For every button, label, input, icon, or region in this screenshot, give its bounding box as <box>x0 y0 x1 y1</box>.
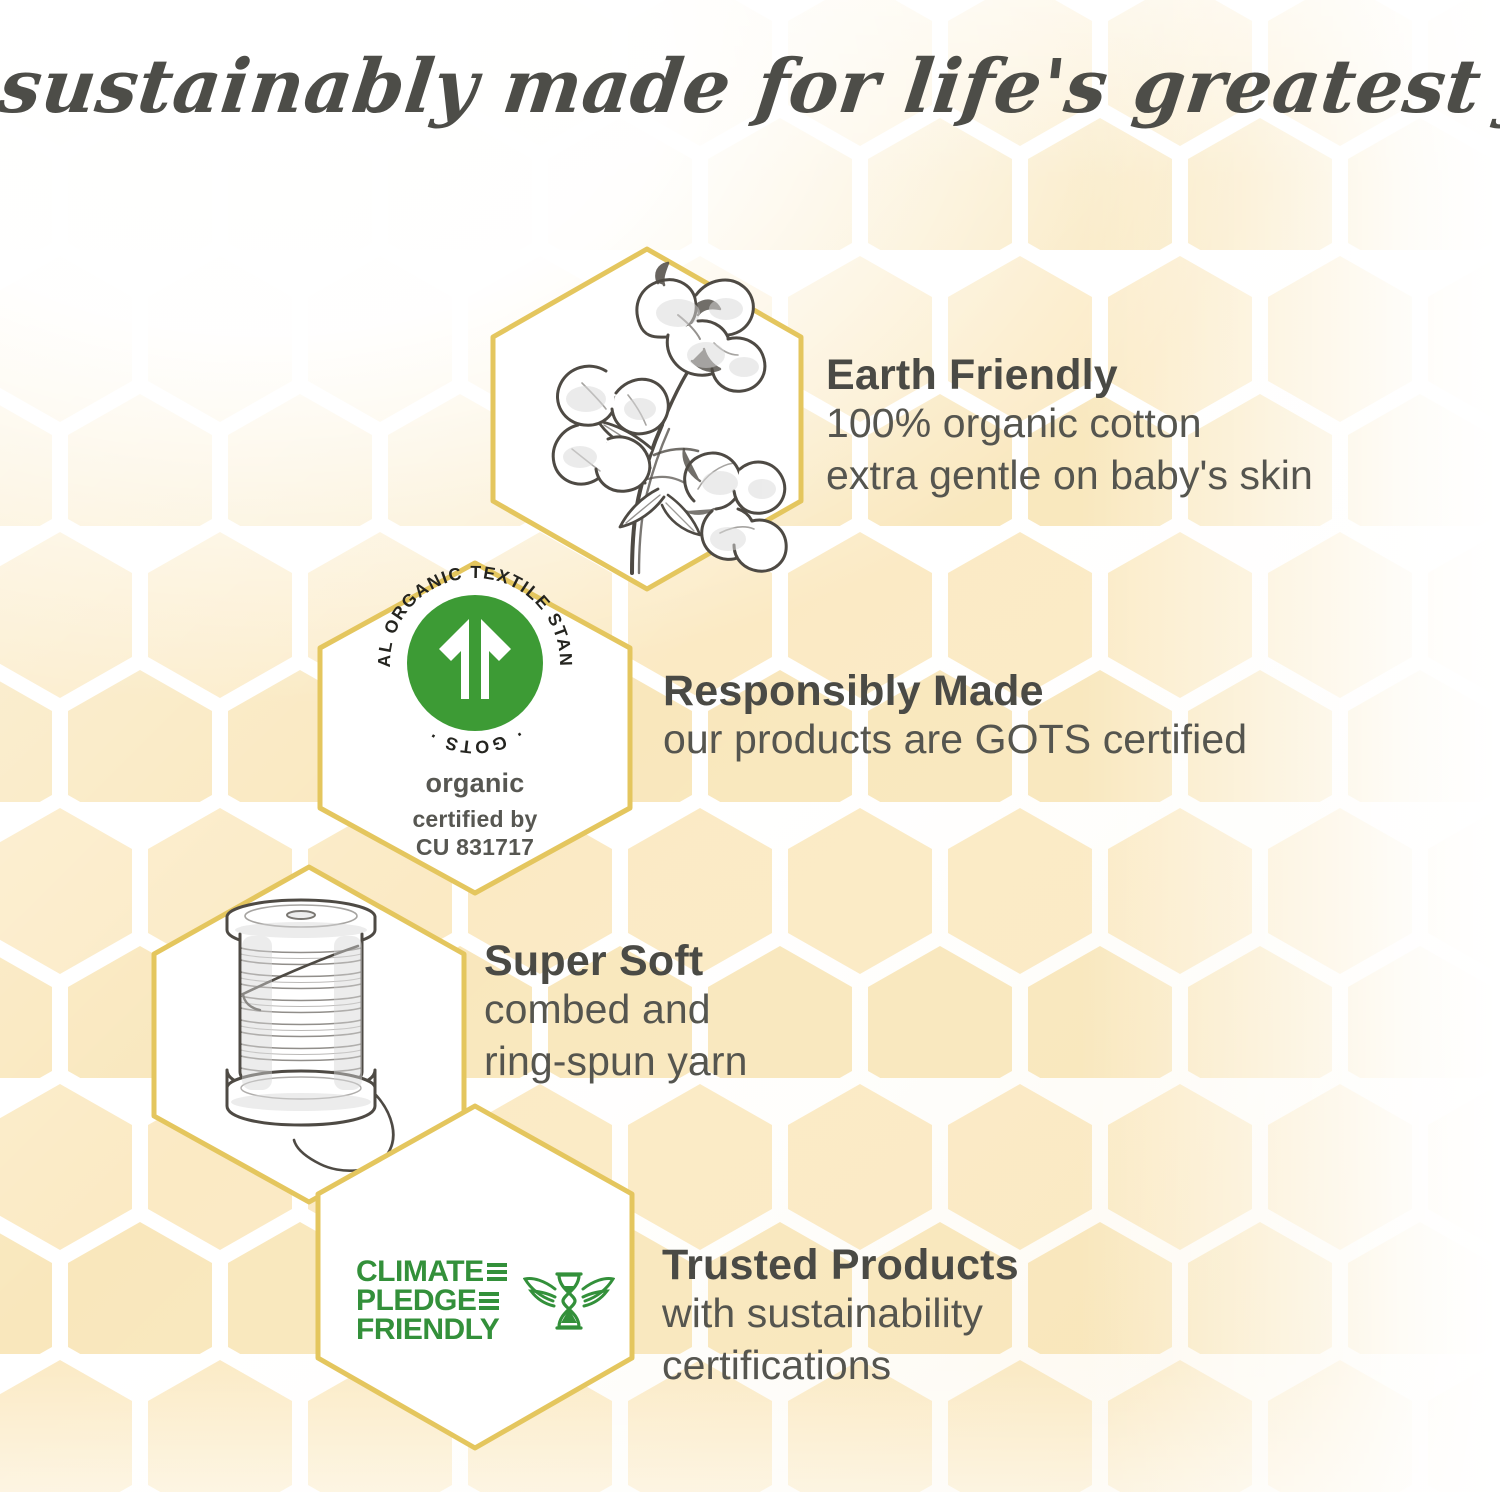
feature-title: Earth Friendly <box>826 352 1313 398</box>
gots-license-code: CU 831717 <box>416 834 534 860</box>
gots-certified-by-text: certified by <box>412 806 537 832</box>
cpf-line-3: FRIENDLY <box>356 1316 499 1345</box>
feature-line: ring-spun yarn <box>484 1036 747 1088</box>
feature-title: Responsibly Made <box>663 668 1247 714</box>
feature-line: with sustainability <box>662 1288 1019 1340</box>
cpf-line-1: CLIMATE <box>356 1258 484 1287</box>
feature-hexagon-responsibly-made: GLOBAL ORGANIC TEXTILE STANDARD · GOTS ·… <box>310 558 640 898</box>
cpf-bars-icon <box>487 1263 507 1281</box>
feature-line: extra gentle on baby's skin <box>826 450 1313 502</box>
brand-tagline: sustainably made for life's greatest joy… <box>0 44 1500 130</box>
climate-pledge-wordmark: CLIMATE PLEDGE FRIENDLY <box>356 1258 507 1344</box>
winged-hourglass-icon <box>523 1265 615 1337</box>
feature-text-trusted-products: Trusted Products with sustainability cer… <box>662 1242 1019 1392</box>
gots-certified-by: certified by CU 831717 <box>310 805 640 861</box>
cpf-bars-icon <box>479 1292 499 1310</box>
feature-title: Super Soft <box>484 938 747 984</box>
gots-green-disc <box>407 595 543 731</box>
feature-text-responsibly-made: Responsibly Made our products are GOTS c… <box>663 668 1247 766</box>
feature-line: our products are GOTS certified <box>663 714 1247 766</box>
feature-line: combed and <box>484 984 747 1036</box>
feature-hexagon-trusted-products: CLIMATE PLEDGE FRIENDLY <box>308 1196 642 1454</box>
infographic-canvas: sustainably made for life's greatest joy… <box>0 0 1500 1492</box>
cpf-line-2: PLEDGE <box>356 1287 476 1316</box>
gots-text-block: organic certified by CU 831717 <box>310 756 640 861</box>
feature-line: 100% organic cotton <box>826 398 1313 450</box>
feature-line: certifications <box>662 1340 1019 1392</box>
gots-organic-label: organic <box>310 768 640 799</box>
climate-pledge-friendly-icon: CLIMATE PLEDGE FRIENDLY <box>356 1258 615 1344</box>
feature-text-super-soft: Super Soft combed and ring-spun yarn <box>484 938 747 1088</box>
feature-text-earth-friendly: Earth Friendly 100% organic cotton extra… <box>826 352 1313 502</box>
feature-title: Trusted Products <box>662 1242 1019 1288</box>
feature-hexagon-earth-friendly <box>482 243 812 595</box>
tagline-text: sustainably made for life's greatest joy <box>0 44 1500 130</box>
